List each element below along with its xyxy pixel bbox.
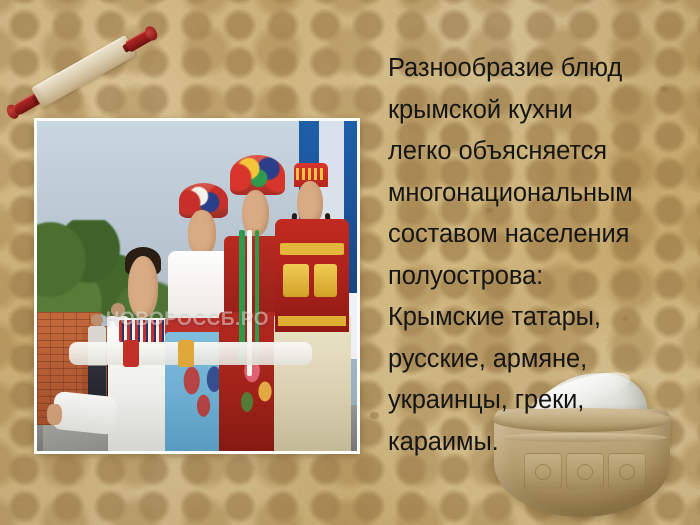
text-line: караимы.: [388, 422, 684, 464]
slide-canvas: НОВОРОССБ.РО Разнообразие блюд крымской …: [0, 0, 700, 525]
rolling-pin-shaft: [31, 35, 136, 108]
photo-frame: НОВОРОССБ.РО: [34, 118, 360, 454]
text-line: крымской кухни: [388, 90, 684, 132]
text-line: полуострова:: [388, 256, 684, 298]
photo-shading-overlay: [37, 121, 357, 451]
bowl-emblem-1: [535, 464, 551, 480]
text-line: украинцы, греки,: [388, 380, 684, 422]
text-line: русские, армяне,: [388, 339, 684, 381]
slide-body-text: Разнообразие блюд крымской кухни легко о…: [388, 48, 684, 463]
text-line: легко объясняется: [388, 131, 684, 173]
bowl-emblem-2: [577, 464, 593, 480]
text-line: многонациональным: [388, 173, 684, 215]
text-line: Крымские татары,: [388, 297, 684, 339]
text-line: Разнообразие блюд: [388, 48, 684, 90]
text-line: составом населения: [388, 214, 684, 256]
folk-dancers-photo: НОВОРОССБ.РО: [37, 121, 357, 451]
bowl-emblem-3: [619, 464, 635, 480]
